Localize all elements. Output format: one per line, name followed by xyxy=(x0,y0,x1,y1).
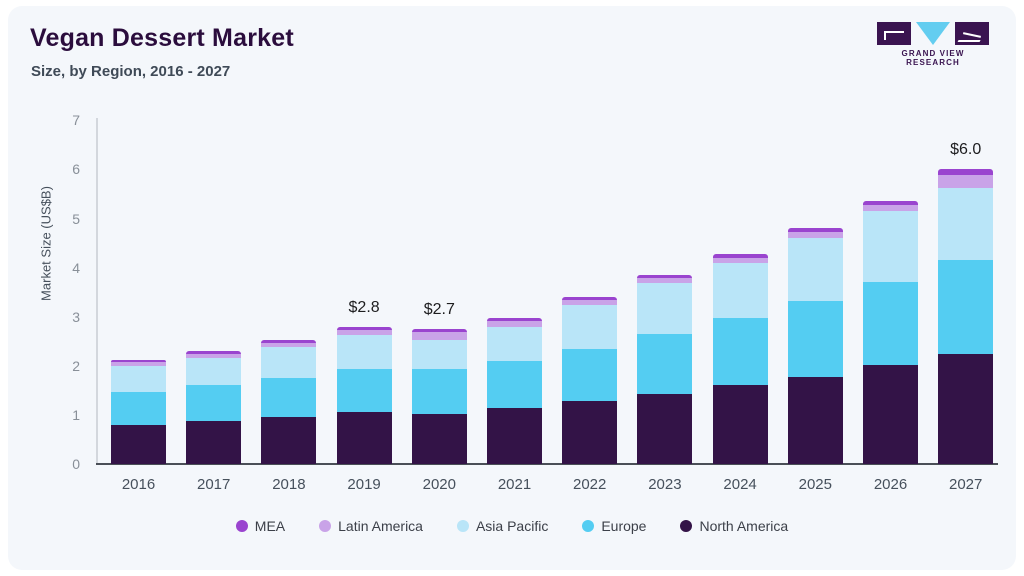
segment-2020-north-america[interactable] xyxy=(412,414,467,464)
segment-2024-asia-pacific[interactable] xyxy=(713,263,768,318)
segment-2019-north-america[interactable] xyxy=(337,412,392,464)
segment-2016-north-america[interactable] xyxy=(111,425,166,464)
segment-2023-mea[interactable] xyxy=(637,275,692,278)
legend-item-mea[interactable]: MEA xyxy=(236,518,285,534)
segment-2022-mea[interactable] xyxy=(562,297,617,299)
segment-2022-north-america[interactable] xyxy=(562,401,617,464)
segment-2016-asia-pacific[interactable] xyxy=(111,366,166,393)
segment-2026-latin-america[interactable] xyxy=(863,205,918,211)
segment-2018-europe[interactable] xyxy=(261,378,316,418)
segment-2024-europe[interactable] xyxy=(713,318,768,386)
chart-legend: MEALatin AmericaAsia PacificEuropeNorth … xyxy=(8,518,1016,534)
legend-label: MEA xyxy=(255,518,285,534)
segment-2016-mea[interactable] xyxy=(111,360,166,362)
segment-2021-mea[interactable] xyxy=(487,318,542,321)
segment-2018-north-america[interactable] xyxy=(261,417,316,464)
segment-2019-latin-america[interactable] xyxy=(337,330,392,335)
y-axis-tick-0: 0 xyxy=(46,456,80,472)
segment-2025-mea[interactable] xyxy=(788,228,843,231)
legend-item-latin-america[interactable]: Latin America xyxy=(319,518,423,534)
segment-2017-mea[interactable] xyxy=(186,351,241,354)
segment-2020-europe[interactable] xyxy=(412,369,467,414)
legend-swatch-icon xyxy=(457,520,469,532)
y-axis-tick-1: 1 xyxy=(46,407,80,423)
segment-2019-europe[interactable] xyxy=(337,369,392,412)
segment-2021-asia-pacific[interactable] xyxy=(487,327,542,361)
segment-2021-latin-america[interactable] xyxy=(487,321,542,327)
segment-2024-latin-america[interactable] xyxy=(713,258,768,263)
legend-item-asia-pacific[interactable]: Asia Pacific xyxy=(457,518,548,534)
segment-2020-asia-pacific[interactable] xyxy=(412,340,467,369)
y-axis-tick-2: 2 xyxy=(46,358,80,374)
segment-2023-europe[interactable] xyxy=(637,334,692,394)
value-label-2027: $6.0 xyxy=(921,141,1011,159)
segment-2023-north-america[interactable] xyxy=(637,394,692,464)
segment-2025-asia-pacific[interactable] xyxy=(788,238,843,300)
y-axis-tick-4: 4 xyxy=(46,260,80,276)
y-axis-tick-3: 3 xyxy=(46,309,80,325)
legend-label: Asia Pacific xyxy=(476,518,548,534)
x-axis-tick-2027: 2027 xyxy=(921,476,1011,493)
y-axis-line xyxy=(96,118,98,463)
legend-swatch-icon xyxy=(582,520,594,532)
segment-2018-mea[interactable] xyxy=(261,340,316,343)
segment-2018-latin-america[interactable] xyxy=(261,343,316,347)
segment-2020-latin-america[interactable] xyxy=(412,332,467,340)
segment-2018-asia-pacific[interactable] xyxy=(261,347,316,377)
segment-2023-asia-pacific[interactable] xyxy=(637,283,692,334)
chart-card: Vegan Dessert Market Size, by Region, 20… xyxy=(8,6,1016,570)
segment-2017-europe[interactable] xyxy=(186,385,241,420)
segment-2024-north-america[interactable] xyxy=(713,385,768,464)
segment-2026-mea[interactable] xyxy=(863,201,918,204)
legend-swatch-icon xyxy=(680,520,692,532)
segment-2026-asia-pacific[interactable] xyxy=(863,211,918,283)
segment-2027-north-america[interactable] xyxy=(938,354,993,464)
legend-label: Latin America xyxy=(338,518,423,534)
segment-2026-europe[interactable] xyxy=(863,282,918,364)
legend-swatch-icon xyxy=(319,520,331,532)
segment-2017-north-america[interactable] xyxy=(186,421,241,464)
stacked-bar-chart: Market Size (US$B) 01234567 201620172018… xyxy=(8,6,1016,570)
segment-2025-europe[interactable] xyxy=(788,301,843,377)
segment-2016-europe[interactable] xyxy=(111,392,166,424)
y-axis-tick-5: 5 xyxy=(46,211,80,227)
segment-2019-mea[interactable] xyxy=(337,327,392,330)
segment-2016-latin-america[interactable] xyxy=(111,362,166,365)
segment-2027-asia-pacific[interactable] xyxy=(938,188,993,260)
segment-2019-asia-pacific[interactable] xyxy=(337,335,392,368)
segment-2022-europe[interactable] xyxy=(562,349,617,402)
segment-2021-europe[interactable] xyxy=(487,361,542,408)
segment-2022-latin-america[interactable] xyxy=(562,300,617,305)
segment-2025-latin-america[interactable] xyxy=(788,232,843,238)
segment-2027-mea[interactable] xyxy=(938,169,993,175)
segment-2020-mea[interactable] xyxy=(412,329,467,332)
segment-2022-asia-pacific[interactable] xyxy=(562,305,617,349)
legend-item-europe[interactable]: Europe xyxy=(582,518,646,534)
segment-2024-mea[interactable] xyxy=(713,254,768,257)
value-label-2020: $2.7 xyxy=(394,301,484,319)
legend-swatch-icon xyxy=(236,520,248,532)
segment-2021-north-america[interactable] xyxy=(487,408,542,464)
segment-2017-asia-pacific[interactable] xyxy=(186,358,241,385)
legend-item-north-america[interactable]: North America xyxy=(680,518,788,534)
segment-2023-latin-america[interactable] xyxy=(637,278,692,283)
segment-2017-latin-america[interactable] xyxy=(186,354,241,358)
legend-label: Europe xyxy=(601,518,646,534)
segment-2026-north-america[interactable] xyxy=(863,365,918,464)
legend-label: North America xyxy=(699,518,788,534)
y-axis-tick-7: 7 xyxy=(46,112,80,128)
y-axis-tick-6: 6 xyxy=(46,161,80,177)
segment-2025-north-america[interactable] xyxy=(788,377,843,464)
segment-2027-europe[interactable] xyxy=(938,260,993,354)
segment-2027-latin-america[interactable] xyxy=(938,175,993,187)
